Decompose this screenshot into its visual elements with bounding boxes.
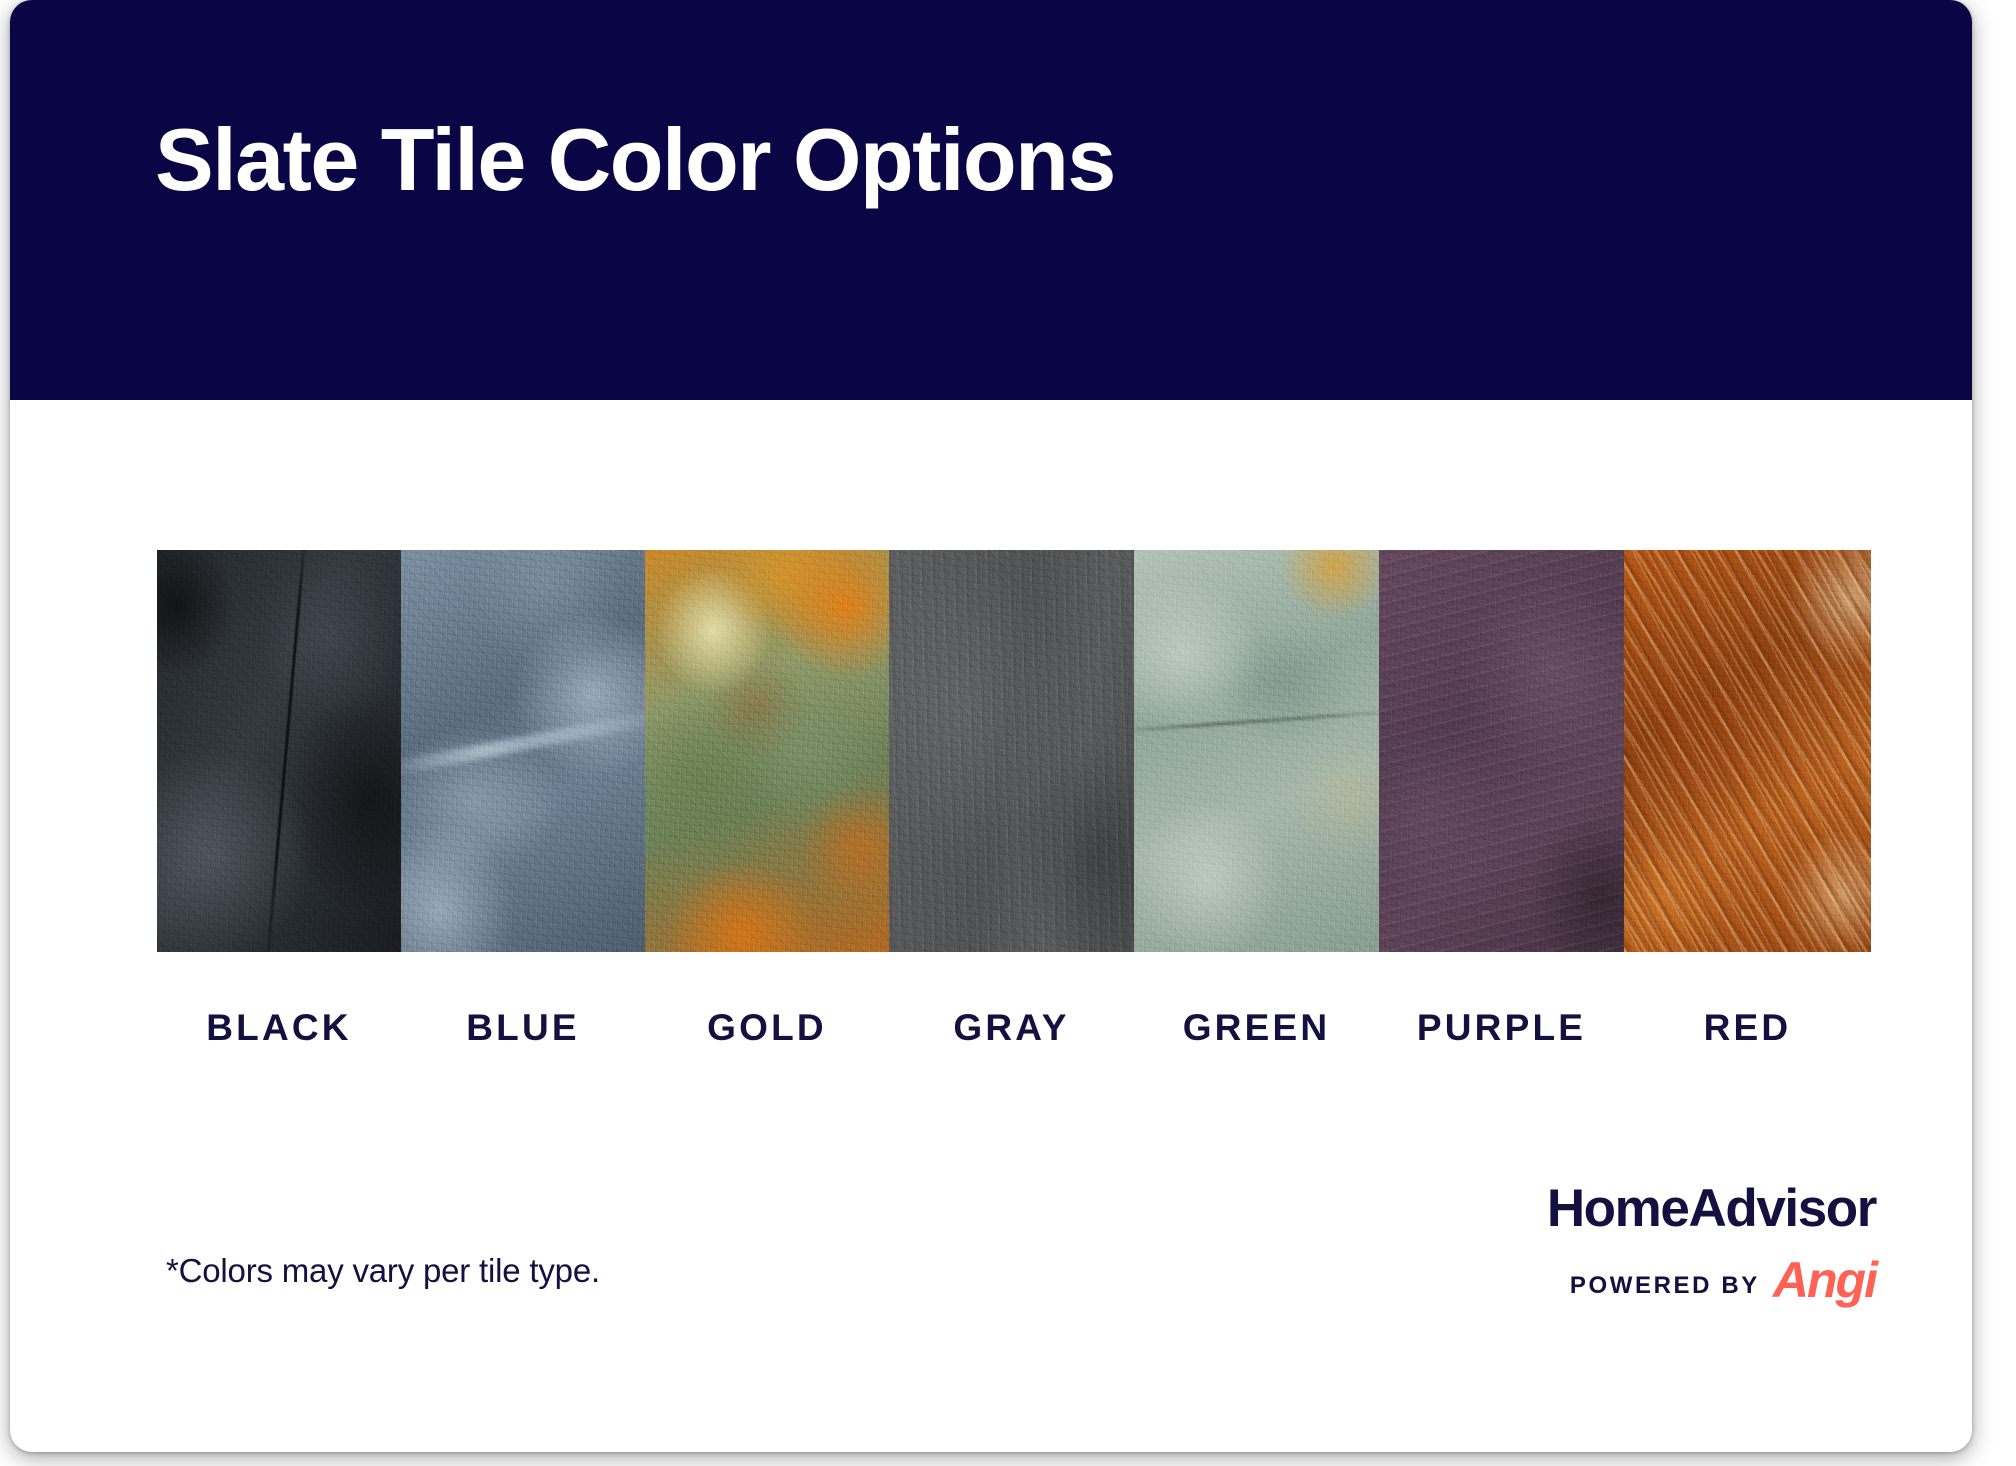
- page-title: Slate Tile Color Options: [155, 114, 1115, 206]
- stone-vein-icon: [1134, 709, 1379, 733]
- swatch-red: [1624, 550, 1871, 952]
- brand-lockup: HomeAdvisor POWERED BY Angi: [1547, 1182, 1876, 1301]
- swatch-label-red: RED: [1624, 1000, 1871, 1056]
- swatch-black: [157, 550, 401, 952]
- swatch-label-black: BLACK: [157, 1000, 401, 1056]
- swatch-labels-row: BLACK BLUE GOLD GRAY GREEN PURPLE RED: [157, 1000, 1871, 1056]
- swatch-label-gray: GRAY: [889, 1000, 1134, 1056]
- header-band: Slate Tile Color Options: [10, 0, 1972, 400]
- angi-logo: Angi: [1773, 1255, 1876, 1305]
- homeadvisor-logo: HomeAdvisor: [1547, 1182, 1876, 1235]
- footnote-disclaimer: *Colors may vary per tile type.: [166, 1252, 600, 1290]
- swatch-gold: [645, 550, 889, 952]
- slate-color-swatch-strip: [157, 550, 1871, 952]
- swatch-label-gold: GOLD: [645, 1000, 889, 1056]
- stone-vein-icon: [264, 550, 307, 952]
- swatch-label-blue: BLUE: [401, 1000, 645, 1056]
- swatch-label-green: GREEN: [1134, 1000, 1379, 1056]
- swatch-blue: [401, 550, 645, 952]
- swatch-purple: [1379, 550, 1624, 952]
- swatch-label-purple: PURPLE: [1379, 1000, 1624, 1056]
- swatch-green: [1134, 550, 1379, 952]
- swatch-gray: [889, 550, 1134, 952]
- powered-by-row: POWERED BY Angi: [1547, 1251, 1876, 1301]
- powered-by-label: POWERED BY: [1570, 1274, 1760, 1298]
- stone-streak-icon: [401, 706, 645, 778]
- infographic-card: Slate Tile Color Options BLACK BLUE GOLD…: [10, 0, 1972, 1452]
- infographic-stage: Slate Tile Color Options BLACK BLUE GOLD…: [0, 0, 2016, 1466]
